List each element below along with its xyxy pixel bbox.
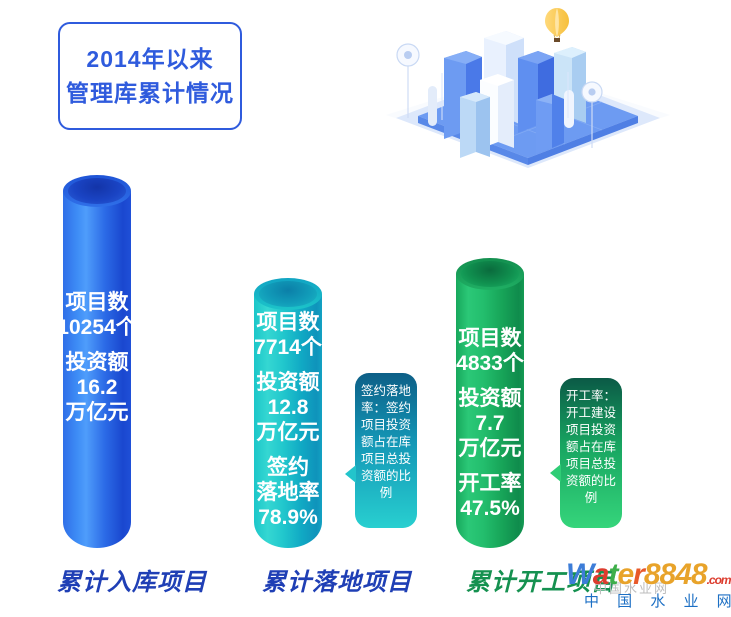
watermark-dotcom: .com (707, 573, 731, 587)
watermark-letter-r: r (633, 558, 644, 591)
watermark-chinese: 中 国 水 业 网 (584, 590, 731, 611)
callout-start-rate-definition: 开工率：开工建设项目投资额占在库项目总投资额的比例 (560, 378, 622, 528)
infographic-canvas: 2014年以来 管理库累计情况 (0, 0, 731, 617)
callout-tail (550, 464, 561, 482)
callout-tail (345, 465, 356, 483)
stat-line: 投资额 (448, 386, 532, 411)
cylinder-mouth (68, 178, 126, 204)
stat-line: 47.5% (448, 496, 532, 521)
cylinder-cumulative-landed: 项目数 7714个 投资额 12.8 万亿元 签约 落地率 78.9% (254, 278, 322, 548)
stat-line: 投资额 (55, 350, 139, 375)
hot-air-balloon-icon (545, 8, 569, 42)
stat-line: 签约 (246, 455, 330, 480)
stat-line: 万亿元 (448, 436, 532, 461)
cylinder-mouth (259, 281, 317, 307)
stat-line: 开工率 (448, 471, 532, 496)
watermark-letter-a: a (593, 558, 609, 591)
stat-line: 项目数 (448, 326, 532, 351)
title-line-1: 2014年以来 (86, 42, 213, 76)
callout-landing-rate-definition: 签约落地率：签约项目投资额占在库项目总投资额的比例 (355, 373, 417, 528)
stat-line: 项目数 (55, 290, 139, 315)
title-box: 2014年以来 管理库累计情况 (58, 22, 242, 130)
stat-line: 项目数 (246, 310, 330, 335)
watermark-digits: 8848 (644, 558, 707, 591)
cylinder-mouth (461, 261, 519, 287)
cylinder-cumulative-started: 项目数 4833个 投资额 7.7 万亿元 开工率 47.5% (456, 258, 524, 548)
bottom-label-landed: 累计落地项目 (262, 562, 412, 597)
stat-line: 7714个 (246, 335, 330, 360)
stat-line: 落地率 (246, 480, 330, 505)
watermark-letter-w: W (566, 558, 593, 591)
stat-line: 投资额 (246, 370, 330, 395)
callout-text: 开工率：开工建设项目投资额占在库项目总投资额的比例 (566, 389, 616, 505)
stat-line: 10254个 (55, 315, 139, 340)
stat-line: 7.7 (448, 411, 532, 436)
stat-line: 16.2 (55, 375, 139, 400)
watermark-letter-e: e (617, 558, 633, 591)
bottom-label-entered: 累计入库项目 (57, 562, 207, 597)
isometric-city-illustration (378, 0, 678, 195)
cylinder-text: 项目数 10254个 投资额 16.2 万亿元 (55, 290, 139, 435)
cylinder-text: 项目数 4833个 投资额 7.7 万亿元 开工率 47.5% (448, 326, 532, 531)
callout-text: 签约落地率：签约项目投资额占在库项目总投资额的比例 (361, 384, 411, 500)
title-line-2: 管理库累计情况 (66, 76, 234, 110)
stat-line: 万亿元 (55, 400, 139, 425)
watermark-logo-text: Water8848.com (566, 558, 731, 592)
stat-line: 78.9% (246, 505, 330, 530)
stat-line: 12.8 (246, 395, 330, 420)
stat-line: 万亿元 (246, 420, 330, 445)
watermark: 中国水业网 Water8848.com 中 国 水 业 网 (566, 558, 731, 613)
cylinder-cumulative-entered: 项目数 10254个 投资额 16.2 万亿元 (63, 175, 131, 548)
cylinder-text: 项目数 7714个 投资额 12.8 万亿元 签约 落地率 78.9% (246, 310, 330, 540)
stat-line: 4833个 (448, 351, 532, 376)
